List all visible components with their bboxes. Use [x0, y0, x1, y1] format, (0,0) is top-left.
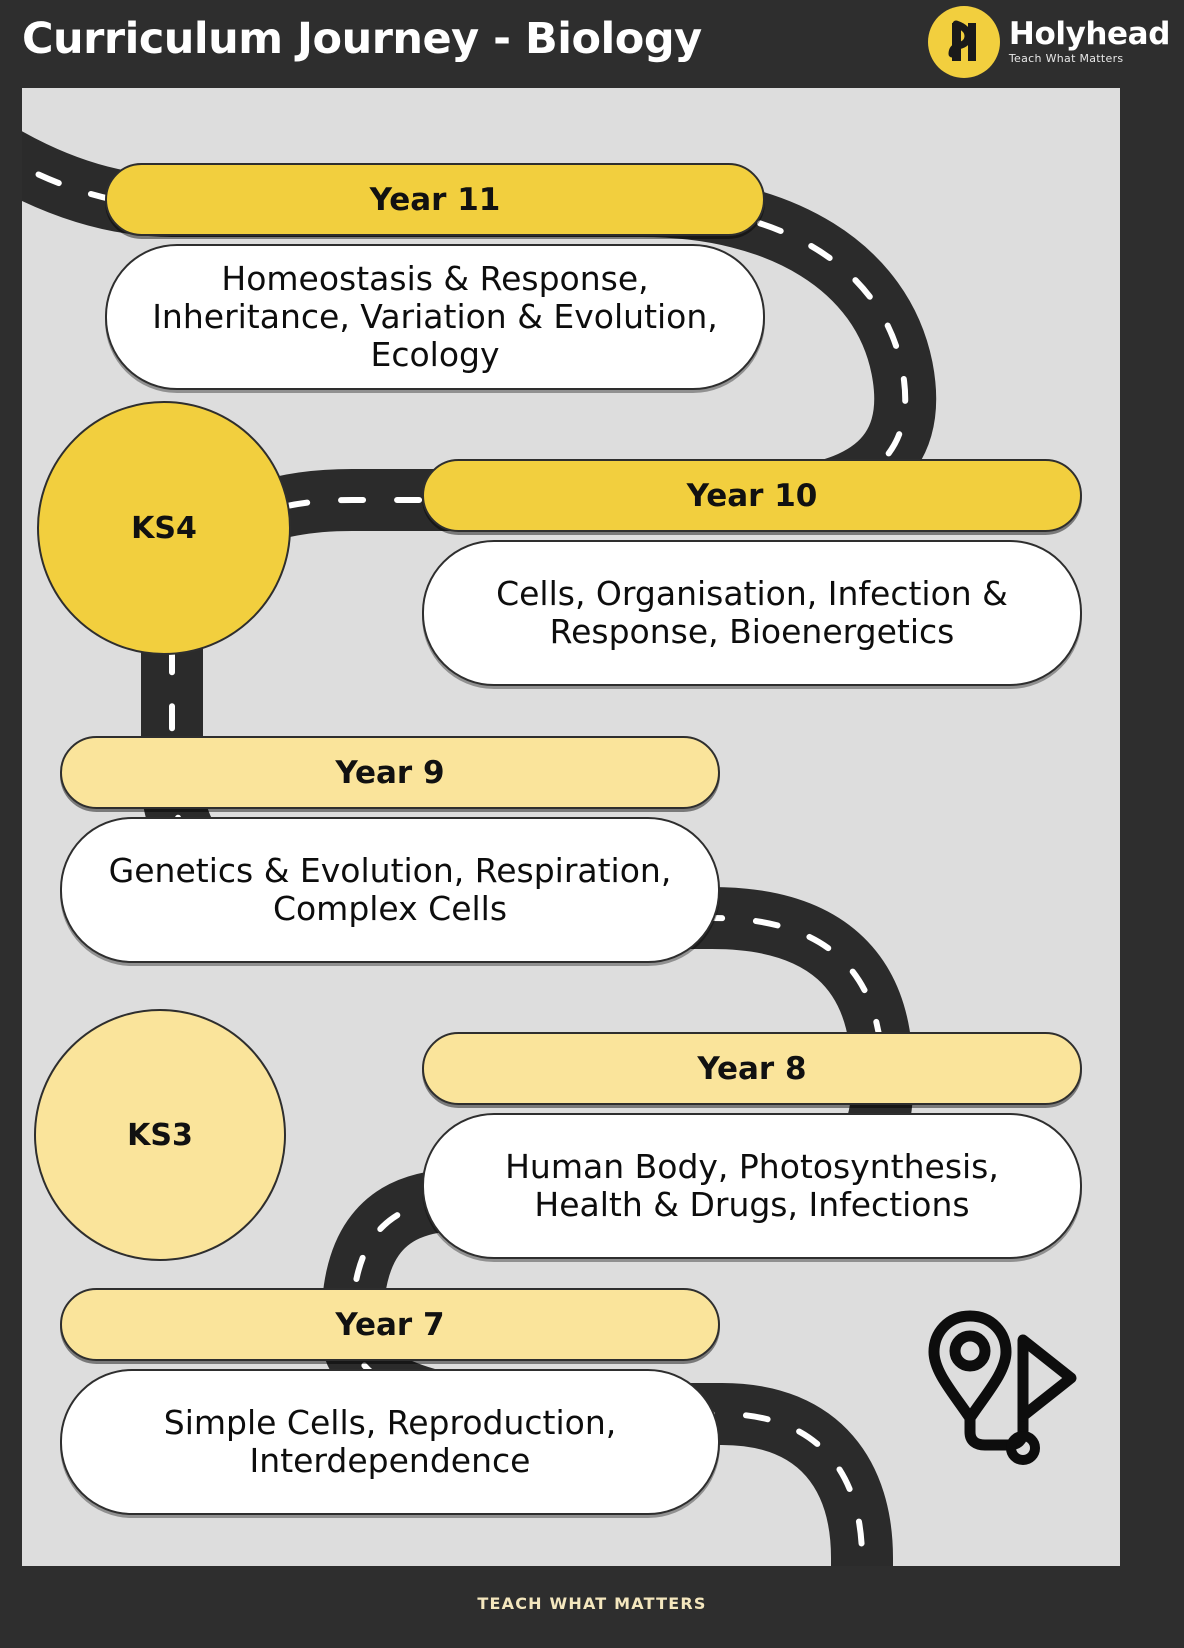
brand-name: Holyhead	[1009, 19, 1170, 51]
year-description-text-year-11: Homeostasis & Response, Inheritance, Var…	[137, 260, 733, 375]
brand-logo: Holyhead Teach What Matters	[928, 6, 1170, 78]
year-label-year-11: Year 11	[370, 182, 501, 218]
year-label-year-10: Year 10	[687, 478, 818, 514]
year-description-text-year-7: Simple Cells, Reproduction, Interdepende…	[92, 1404, 688, 1481]
key-stage-ks4-label: KS4	[131, 511, 197, 546]
year-description-year-11: Homeostasis & Response, Inheritance, Var…	[105, 244, 765, 390]
year-pill-year-10[interactable]: Year 10	[422, 459, 1082, 532]
year-description-year-10: Cells, Organisation, Infection & Respons…	[422, 540, 1082, 686]
year-pill-year-9[interactable]: Year 9	[60, 736, 720, 809]
year-description-text-year-9: Genetics & Evolution, Respiration, Compl…	[92, 852, 688, 929]
year-pill-year-11[interactable]: Year 11	[105, 163, 765, 236]
year-description-year-8: Human Body, Photosynthesis, Health & Dru…	[422, 1113, 1082, 1259]
page-footer: TEACH WHAT MATTERS	[0, 1566, 1184, 1648]
year-label-year-8: Year 8	[697, 1051, 806, 1087]
route-map-pin-icon	[922, 1298, 1082, 1468]
page-title: Curriculum Journey - Biology	[22, 14, 702, 64]
year-label-year-9: Year 9	[335, 755, 444, 791]
key-stage-ks4[interactable]: KS4	[37, 401, 291, 655]
holyhead-monogram-icon	[928, 6, 1000, 78]
journey-canvas: KS4 KS3 Year 11 Homeostasis & Response, …	[22, 88, 1120, 1566]
page-header: Curriculum Journey - Biology Holyhead Te…	[0, 0, 1184, 88]
key-stage-ks3-label: KS3	[127, 1118, 193, 1153]
year-description-text-year-10: Cells, Organisation, Infection & Respons…	[454, 575, 1050, 652]
year-label-year-7: Year 7	[335, 1307, 444, 1343]
key-stage-ks3[interactable]: KS3	[34, 1009, 286, 1261]
year-pill-year-8[interactable]: Year 8	[422, 1032, 1082, 1105]
year-description-year-9: Genetics & Evolution, Respiration, Compl…	[60, 817, 720, 963]
brand-tagline: Teach What Matters	[1009, 52, 1124, 65]
year-description-year-7: Simple Cells, Reproduction, Interdepende…	[60, 1369, 720, 1515]
year-pill-year-7[interactable]: Year 7	[60, 1288, 720, 1361]
footer-tagline: TEACH WHAT MATTERS	[0, 1594, 1184, 1613]
year-description-text-year-8: Human Body, Photosynthesis, Health & Dru…	[454, 1148, 1050, 1225]
